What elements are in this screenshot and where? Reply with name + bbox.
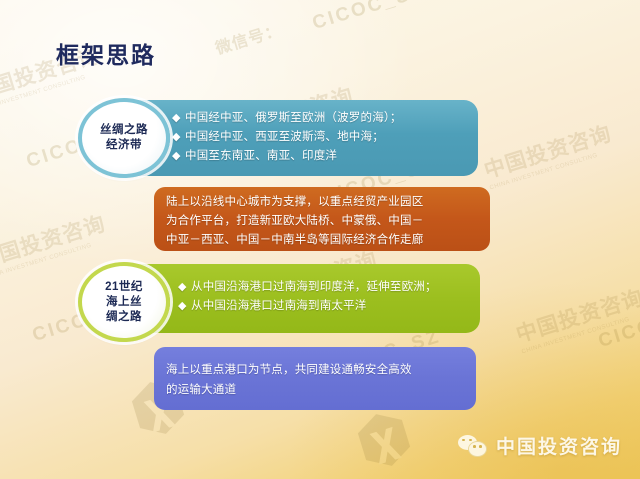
text-line: 陆上以沿线中心城市为支撑，以重点经贸产业园区: [166, 193, 479, 212]
watermark-code: CICOC_SZ: [596, 298, 640, 353]
watermark-company: 中国投资咨询CHINA INVESTMENT CONSULTING: [480, 117, 617, 191]
wechat-icon: [458, 435, 488, 457]
text-line: 的运输大通道: [166, 380, 465, 400]
block-land-corridor: 陆上以沿线中心城市为支撑，以重点经贸产业园区 为合作平台，打造新亚欧大陆桥、中蒙…: [154, 187, 490, 251]
silk-road-bullet-list: ◆ 中国经中亚、俄罗斯至欧洲（波罗的海）； ◆ 中国经中亚、西亚至波斯湾、地中海…: [172, 109, 402, 166]
watermark-code: CICOC_SZ: [310, 0, 427, 35]
watermark-company: 中国投资咨询CHINA INVESTMENT CONSULTING: [512, 281, 640, 355]
list-item: ◆ 中国经中亚、西亚至波斯湾、地中海；: [172, 128, 402, 147]
land-corridor-text: 陆上以沿线中心城市为支撑，以重点经贸产业园区 为合作平台，打造新亚欧大陆桥、中蒙…: [166, 193, 479, 250]
company-logo-watermark-icon: [0, 344, 1, 413]
sea-channel-text: 海上以重点港口为节点，共同建设通畅安全高效 的运输大通道: [166, 360, 465, 400]
text-line: 中亚－西亚、中国－中南半岛等国际经济合作走廊: [166, 231, 479, 250]
watermark-wechat-prefix: 微信号：: [0, 0, 8, 19]
text-line: 为合作平台，打造新亚欧大陆桥、中蒙俄、中国－: [166, 212, 479, 231]
block-sea-channel: 海上以重点港口为节点，共同建设通畅安全高效 的运输大通道: [154, 347, 476, 410]
list-item: ◆ 中国至东南亚、南亚、印度洋: [172, 147, 402, 166]
badge-line: 丝绸之路: [100, 123, 148, 138]
company-logo-watermark-icon: [351, 406, 417, 475]
watermark-wechat-prefix: 微信号：: [212, 16, 284, 59]
block-maritime-silk-road: ◆ 从中国沿海港口过南海到印度洋，延伸至欧洲； ◆ 从中国沿海港口过南海到南太平…: [120, 264, 480, 333]
watermark-code: CICOC_SZ: [580, 0, 640, 5]
watermark-wechat-prefix: 微信号：: [0, 322, 6, 365]
list-item-text: 中国经中亚、西亚至波斯湾、地中海；: [185, 128, 384, 147]
list-item: ◆ 中国经中亚、俄罗斯至欧洲（波罗的海）；: [172, 109, 402, 128]
watermark-wechat-prefix: 微信号：: [0, 148, 2, 191]
brand-footer: 中国投资咨询: [458, 432, 622, 459]
maritime-bullet-list: ◆ 从中国沿海港口过南海到印度洋，延伸至欧洲； ◆ 从中国沿海港口过南海到南太平…: [178, 278, 437, 316]
list-item-text: 从中国沿海港口过南海到印度洋，延伸至欧洲；: [191, 278, 437, 297]
badge-line: 绸之路: [105, 310, 143, 325]
badge-maritime-silk-road: 21世纪 海上丝 绸之路: [78, 262, 170, 342]
list-item: ◆ 从中国沿海港口过南海到南太平洋: [178, 297, 437, 316]
diamond-bullet-icon: ◆: [178, 278, 191, 297]
diamond-bullet-icon: ◆: [172, 147, 185, 166]
watermark-code: CICOC_SZ: [18, 0, 135, 1]
diamond-bullet-icon: ◆: [172, 128, 185, 147]
badge-line: 海上丝: [105, 295, 143, 310]
badge-silk-road-belt: 丝绸之路 经济带: [78, 98, 170, 178]
diamond-bullet-icon: ◆: [172, 109, 185, 128]
list-item: ◆ 从中国沿海港口过南海到印度洋，延伸至欧洲；: [178, 278, 437, 297]
block-silk-road-belt: ◆ 中国经中亚、俄罗斯至欧洲（波罗的海）； ◆ 中国经中亚、西亚至波斯湾、地中海…: [120, 100, 478, 176]
list-item-text: 中国经中亚、俄罗斯至欧洲（波罗的海）；: [185, 109, 402, 128]
list-item-text: 从中国沿海港口过南海到南太平洋: [191, 297, 367, 316]
list-item-text: 中国至东南亚、南亚、印度洋: [185, 147, 337, 166]
badge-line: 21世纪: [105, 280, 143, 295]
diamond-bullet-icon: ◆: [178, 297, 191, 316]
text-line: 海上以重点港口为节点，共同建设通畅安全高效: [166, 360, 465, 380]
slide-canvas: 微信号： CICOC_SZ 微信号： CICOC_SZ CICOC_SZ 中国投…: [0, 0, 640, 479]
page-title: 框架思路: [56, 36, 156, 70]
brand-label: 中国投资咨询: [496, 432, 622, 459]
badge-line: 经济带: [100, 138, 148, 153]
